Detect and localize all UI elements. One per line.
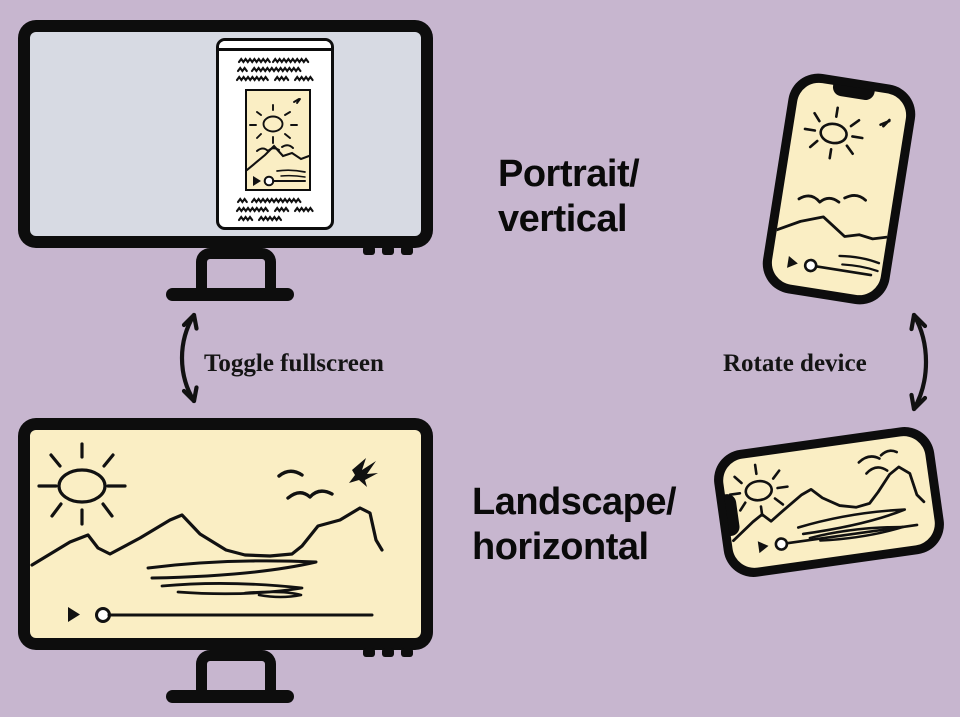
monitor-stand-base bbox=[166, 690, 294, 703]
video-controls-phone-landscape bbox=[758, 519, 918, 553]
monitor-screen bbox=[30, 32, 421, 236]
monitor-screen bbox=[30, 430, 421, 638]
browser-title-bar bbox=[219, 41, 331, 51]
rotate-device-arrow bbox=[900, 303, 940, 421]
video-scene-landscape-fullscreen bbox=[30, 430, 421, 638]
monitor-stand-base bbox=[166, 288, 294, 301]
browser-window[interactable] bbox=[216, 38, 334, 230]
landscape-label: Landscape/ horizontal bbox=[472, 480, 676, 570]
page-text-top bbox=[233, 57, 325, 83]
diagram-canvas: Toggle fullscreen Rotate device Portrait… bbox=[0, 0, 960, 717]
video-controls-fullscreen bbox=[68, 607, 372, 622]
monitor-bottom-tab bbox=[401, 648, 413, 657]
windowed-monitor[interactable] bbox=[18, 20, 433, 300]
portrait-label: Portrait/ vertical bbox=[498, 152, 639, 242]
video-controls-portrait bbox=[253, 176, 305, 186]
rotate-device-label: Rotate device bbox=[723, 350, 867, 378]
monitor-bottom-tab bbox=[382, 246, 394, 255]
monitor-bottom-tab bbox=[401, 246, 413, 255]
monitor-bottom-tab bbox=[382, 648, 394, 657]
video-scene-portrait bbox=[247, 91, 309, 189]
inline-video-player[interactable] bbox=[245, 89, 311, 191]
toggle-fullscreen-arrow bbox=[168, 303, 208, 413]
landscape-phone[interactable] bbox=[710, 423, 948, 581]
video-controls-phone-portrait bbox=[787, 256, 872, 281]
page-text-bottom bbox=[233, 197, 325, 223]
fullscreen-monitor[interactable] bbox=[18, 418, 433, 703]
portrait-phone[interactable] bbox=[758, 69, 919, 308]
monitor-bottom-tab bbox=[363, 246, 375, 255]
toggle-fullscreen-label: Toggle fullscreen bbox=[204, 350, 384, 378]
monitor-bottom-tab bbox=[363, 648, 375, 657]
